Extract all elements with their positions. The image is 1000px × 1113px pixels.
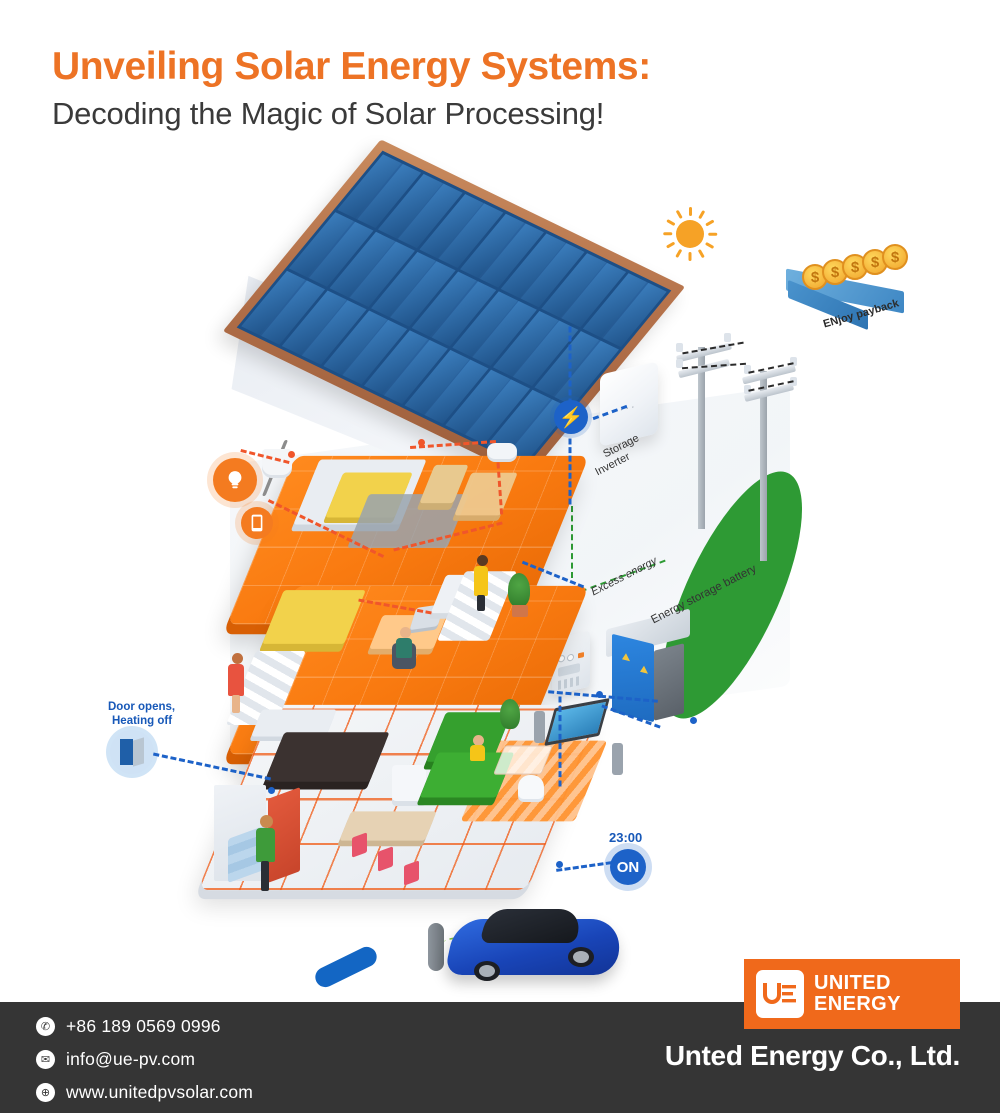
connector-to-on-badge	[556, 861, 612, 872]
potted-plant	[508, 573, 530, 607]
contact-phone[interactable]: ✆ +86 189 0569 0996	[36, 1010, 253, 1043]
door-heating-label-line2: Heating off	[112, 714, 172, 730]
car-windows	[479, 909, 585, 943]
company-logo-badge[interactable]: UNITED ENERGY	[744, 959, 960, 1029]
sun-icon	[662, 206, 718, 262]
door-leaf-open	[120, 739, 133, 765]
page-title: Unveiling Solar Energy Systems:	[52, 46, 952, 88]
on-toggle-badge[interactable]: ON	[610, 849, 646, 885]
logo-line-2: ENERGY	[814, 994, 901, 1015]
energy-storage-battery-cabinet	[612, 633, 684, 719]
speaker-left	[534, 711, 545, 743]
logo-text: UNITED ENERGY	[814, 973, 901, 1015]
ev-charging-post	[428, 923, 444, 971]
logo-line-1: UNITED	[814, 973, 901, 994]
connector-node	[288, 451, 295, 458]
connector-node	[268, 787, 275, 794]
air-conditioner	[487, 443, 517, 459]
connector-node	[690, 717, 697, 724]
contact-email[interactable]: ✉ info@ue-pv.com	[36, 1043, 253, 1076]
electric-car	[450, 903, 620, 985]
phone-icon: ✆	[36, 1017, 55, 1036]
lightning-bolt-icon: ⚡	[554, 400, 588, 434]
car-wheel	[568, 947, 594, 967]
connector-node	[418, 439, 425, 446]
email-icon: ✉	[36, 1050, 55, 1069]
battery-doors	[612, 634, 654, 722]
kitchen-counter	[264, 732, 389, 781]
smart-device-badge	[312, 944, 380, 991]
connector-node	[556, 861, 563, 868]
coin-icon: $	[882, 244, 908, 270]
excess-energy-path-vertical	[571, 506, 573, 578]
sun-core	[676, 220, 704, 248]
ue-logo-mark	[756, 970, 804, 1018]
connector-inverter-down	[559, 697, 562, 787]
contact-website[interactable]: ⊕ www.unitedpvsolar.com	[36, 1076, 253, 1109]
infographic-poster: Unveiling Solar Energy Systems: Decoding…	[0, 0, 1000, 1113]
connector-panel-to-bolt	[569, 327, 572, 405]
header: Unveiling Solar Energy Systems: Decoding…	[52, 46, 952, 132]
speaker-right	[612, 743, 623, 775]
door-icon[interactable]	[110, 730, 154, 774]
living-room-plant	[500, 699, 520, 729]
connector-bolt-to-inverter	[569, 439, 572, 505]
company-name: Unted Energy Co., Ltd.	[612, 1040, 960, 1072]
website-url: www.unitedpvsolar.com	[66, 1082, 253, 1103]
battery-side-panel	[654, 643, 684, 720]
door-leaf-panel	[133, 737, 144, 766]
phone-number: +86 189 0569 0996	[66, 1016, 221, 1037]
smartphone-icon[interactable]	[241, 507, 273, 539]
time-label: 23:00	[609, 830, 642, 845]
email-address: info@ue-pv.com	[66, 1049, 195, 1070]
storage-unit: ····	[600, 361, 658, 446]
car-wheel	[474, 961, 500, 981]
living-room-lamp	[518, 775, 544, 799]
globe-icon: ⊕	[36, 1083, 55, 1102]
contact-list: ✆ +86 189 0569 0996 ✉ info@ue-pv.com ⊕ w…	[36, 1010, 253, 1109]
payback-paper-plane: $ $ $ $ $ ENjoy payback	[786, 270, 906, 328]
connector-node	[596, 691, 603, 698]
solar-system-illustration: $ $ $ $ $ ENjoy payback	[0, 175, 1000, 1005]
page-subtitle: Decoding the Magic of Solar Processing!	[52, 96, 952, 132]
plant-pot	[512, 605, 528, 617]
light-bulb-icon[interactable]	[213, 458, 257, 502]
